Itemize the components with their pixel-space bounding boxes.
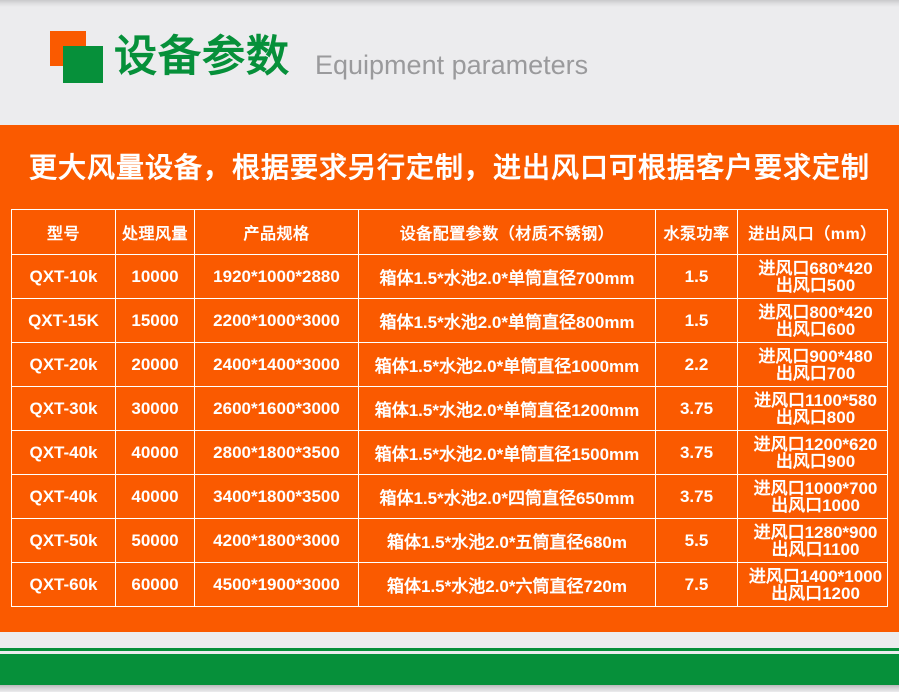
cell-spec: 4500*1900*3000 xyxy=(195,563,359,607)
vent-outlet: 出风口1200 xyxy=(748,585,883,602)
cell-airflow: 40000 xyxy=(116,475,195,519)
cell-pump: 5.5 xyxy=(656,519,738,563)
cell-spec: 2800*1800*3500 xyxy=(195,431,359,475)
cell-pump: 1.5 xyxy=(656,255,738,299)
column-header-config: 设备配置参数（材质不锈钢） xyxy=(359,210,656,255)
table-row: QXT-20k 20000 2400*1400*3000 箱体1.5*水池2.0… xyxy=(12,343,888,387)
green-accent-line xyxy=(0,648,899,651)
cell-pump: 1.5 xyxy=(656,299,738,343)
vent-inlet: 进风口1400*1000 xyxy=(748,568,883,585)
cell-pump: 3.75 xyxy=(656,431,738,475)
vent-outlet: 出风口500 xyxy=(748,277,883,294)
vent-inlet: 进风口1100*580 xyxy=(748,392,883,409)
equipment-parameters-table: 型号 处理风量 产品规格 设备配置参数（材质不锈钢） 水泵功率 进出风口（mm）… xyxy=(11,209,888,607)
banner-note: 更大风量设备，根据要求另行定制，进出风口可根据客户要求定制 xyxy=(0,151,899,185)
cell-vent: 进风口800*420 出风口600 xyxy=(738,299,888,343)
cell-spec: 2600*1600*3000 xyxy=(195,387,359,431)
vent-inlet: 进风口900*480 xyxy=(748,348,883,365)
cell-airflow: 60000 xyxy=(116,563,195,607)
cell-airflow: 10000 xyxy=(116,255,195,299)
cell-vent: 进风口1000*700 出风口1000 xyxy=(738,475,888,519)
table-row: QXT-40k 40000 3400*1800*3500 箱体1.5*水池2.0… xyxy=(12,475,888,519)
page-subtitle: Equipment parameters xyxy=(315,49,588,82)
cell-model: QXT-10k xyxy=(12,255,116,299)
vent-outlet: 出风口800 xyxy=(748,409,883,426)
table-body: QXT-10k 10000 1920*1000*2880 箱体1.5*水池2.0… xyxy=(12,255,888,607)
cell-config: 箱体1.5*水池2.0*单筒直径1500mm xyxy=(359,431,656,475)
cell-config: 箱体1.5*水池2.0*单筒直径1000mm xyxy=(359,343,656,387)
logo-mark xyxy=(50,31,106,83)
cell-spec: 2200*1000*3000 xyxy=(195,299,359,343)
cell-model: QXT-40k xyxy=(12,475,116,519)
column-header-vent: 进出风口（mm） xyxy=(738,210,888,255)
cell-vent: 进风口680*420 出风口500 xyxy=(738,255,888,299)
cell-vent: 进风口1200*620 出风口900 xyxy=(738,431,888,475)
cell-model: QXT-15K xyxy=(12,299,116,343)
cell-pump: 3.75 xyxy=(656,387,738,431)
cell-spec: 2400*1400*3000 xyxy=(195,343,359,387)
cell-config: 箱体1.5*水池2.0*六筒直径720m xyxy=(359,563,656,607)
column-header-spec: 产品规格 xyxy=(195,210,359,255)
vent-outlet: 出风口900 xyxy=(748,453,883,470)
table-row: QXT-40k 40000 2800*1800*3500 箱体1.5*水池2.0… xyxy=(12,431,888,475)
table-row: QXT-15K 15000 2200*1000*3000 箱体1.5*水池2.0… xyxy=(12,299,888,343)
cell-spec: 4200*1800*3000 xyxy=(195,519,359,563)
cell-config: 箱体1.5*水池2.0*单筒直径700mm xyxy=(359,255,656,299)
spec-panel: 更大风量设备，根据要求另行定制，进出风口可根据客户要求定制 型号 处理风量 产品… xyxy=(0,125,899,632)
cell-airflow: 15000 xyxy=(116,299,195,343)
cell-vent: 进风口900*480 出风口700 xyxy=(738,343,888,387)
cell-vent: 进风口1400*1000 出风口1200 xyxy=(738,563,888,607)
column-header-model: 型号 xyxy=(12,210,116,255)
cell-model: QXT-30k xyxy=(12,387,116,431)
table-header-row: 型号 处理风量 产品规格 设备配置参数（材质不锈钢） 水泵功率 进出风口（mm） xyxy=(12,210,888,255)
bottom-edge-shadow xyxy=(0,685,899,692)
vent-inlet: 进风口680*420 xyxy=(748,260,883,277)
cell-config: 箱体1.5*水池2.0*五筒直径680m xyxy=(359,519,656,563)
cell-model: QXT-50k xyxy=(12,519,116,563)
column-header-pump: 水泵功率 xyxy=(656,210,738,255)
vent-inlet: 进风口1000*700 xyxy=(748,480,883,497)
cell-config: 箱体1.5*水池2.0*单筒直径800mm xyxy=(359,299,656,343)
vent-inlet: 进风口1280*900 xyxy=(748,524,883,541)
page-header: 设备参数 Equipment parameters xyxy=(0,7,899,125)
cell-airflow: 20000 xyxy=(116,343,195,387)
cell-vent: 进风口1100*580 出风口800 xyxy=(738,387,888,431)
cell-airflow: 40000 xyxy=(116,431,195,475)
vent-inlet: 进风口800*420 xyxy=(748,304,883,321)
vent-outlet: 出风口700 xyxy=(748,365,883,382)
vent-inlet: 进风口1200*620 xyxy=(748,436,883,453)
column-header-airflow: 处理风量 xyxy=(116,210,195,255)
green-square-icon xyxy=(63,46,103,83)
cell-pump: 2.2 xyxy=(656,343,738,387)
cell-model: QXT-20k xyxy=(12,343,116,387)
cell-model: QXT-60k xyxy=(12,563,116,607)
table-row: QXT-60k 60000 4500*1900*3000 箱体1.5*水池2.0… xyxy=(12,563,888,607)
cell-pump: 3.75 xyxy=(656,475,738,519)
table-row: QXT-50k 50000 4200*1800*3000 箱体1.5*水池2.0… xyxy=(12,519,888,563)
footer-green-bar xyxy=(0,654,899,685)
cell-airflow: 30000 xyxy=(116,387,195,431)
page-title: 设备参数 xyxy=(114,31,290,83)
table-row: QXT-10k 10000 1920*1000*2880 箱体1.5*水池2.0… xyxy=(12,255,888,299)
cell-spec: 1920*1000*2880 xyxy=(195,255,359,299)
table-row: QXT-30k 30000 2600*1600*3000 箱体1.5*水池2.0… xyxy=(12,387,888,431)
cell-config: 箱体1.5*水池2.0*四筒直径650mm xyxy=(359,475,656,519)
vent-outlet: 出风口1100 xyxy=(748,541,883,558)
vent-outlet: 出风口1000 xyxy=(748,497,883,514)
vent-outlet: 出风口600 xyxy=(748,321,883,338)
cell-spec: 3400*1800*3500 xyxy=(195,475,359,519)
cell-config: 箱体1.5*水池2.0*单筒直径1200mm xyxy=(359,387,656,431)
cell-pump: 7.5 xyxy=(656,563,738,607)
top-edge-shadow xyxy=(0,0,899,7)
cell-model: QXT-40k xyxy=(12,431,116,475)
cell-airflow: 50000 xyxy=(116,519,195,563)
cell-vent: 进风口1280*900 出风口1100 xyxy=(738,519,888,563)
